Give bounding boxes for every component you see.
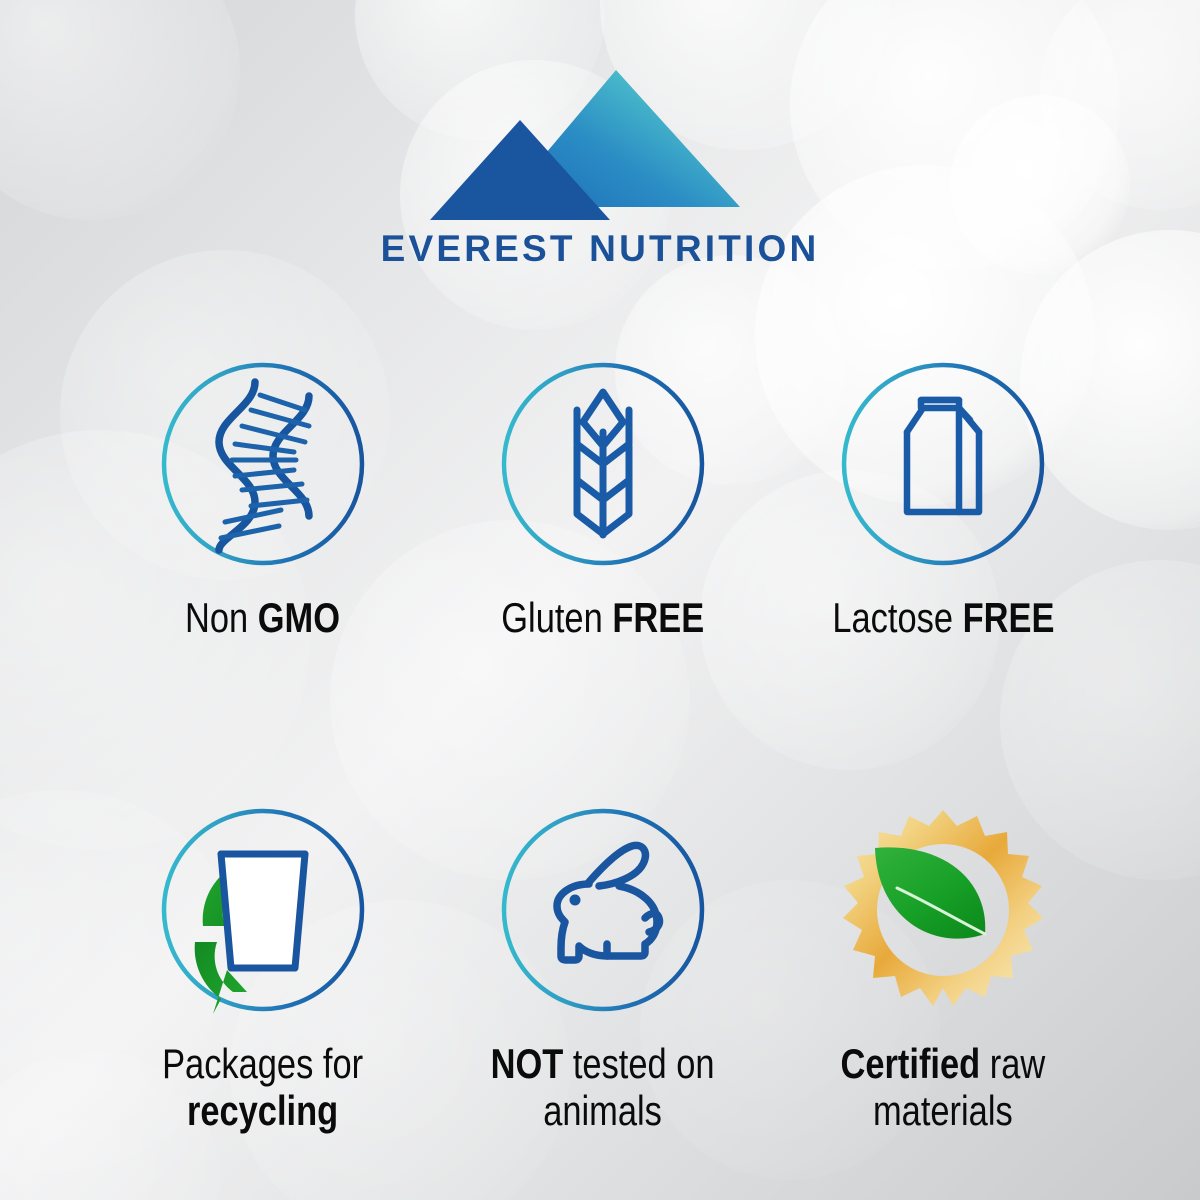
badge-not-tested-on-animals[interactable]: NOT tested on animals [433, 806, 773, 1134]
badge-caption: Certified raw materials [841, 1040, 1046, 1134]
caption-plain: Lactose [832, 594, 962, 641]
badge-icon-frame [839, 806, 1047, 1014]
badge-caption: Lactose FREE [832, 594, 1054, 641]
badge-icon-frame [499, 360, 707, 568]
caption-line-2: materials [841, 1087, 1046, 1134]
badge-non-gmo[interactable]: Non GMO [93, 360, 433, 641]
rabbit-icon [499, 806, 707, 1014]
caption-bold: Certified [841, 1040, 981, 1087]
badge-lactose-free[interactable]: Lactose FREE [773, 360, 1113, 641]
caption-line-2: animals [491, 1087, 715, 1134]
caption-line-1: Packages for [162, 1040, 363, 1087]
badge-icon-frame [159, 360, 367, 568]
brand-name: EVEREST NUTRITION [0, 230, 1200, 267]
milk-carton-icon [839, 360, 1047, 568]
caption-bold: FREE [613, 594, 705, 641]
caption-line-1: Certified raw [841, 1040, 1046, 1087]
poster-canvas: EVEREST NUTRITION [0, 0, 1200, 1200]
badge-row-1: Non GMO [93, 360, 1200, 641]
badge-icon-frame [839, 360, 1047, 568]
badge-caption: Packages for recycling [162, 1040, 363, 1134]
badge-certified-raw-materials[interactable]: Certified raw materials [773, 806, 1113, 1134]
dna-helix-icon [159, 360, 367, 568]
caption-bold: GMO [258, 594, 340, 641]
badge-caption: Gluten FREE [502, 594, 705, 641]
sun-leaf-certified-icon [839, 806, 1047, 1014]
caption-plain: Gluten [502, 594, 613, 641]
caption-plain: tested on [564, 1040, 715, 1087]
badge-icon-frame [159, 806, 367, 1014]
mountain-peaks-icon [420, 62, 780, 222]
certification-badge-grid: Non GMO [0, 360, 1200, 1134]
badge-icon-frame [499, 806, 707, 1014]
wheat-stalk-icon [499, 360, 707, 568]
caption-plain: Non [185, 594, 258, 641]
badge-row-2: Packages for recycling [93, 806, 1200, 1134]
recycling-cup-icon [159, 806, 367, 1014]
caption-line-1: NOT tested on [491, 1040, 715, 1087]
caption-bold: FREE [962, 594, 1054, 641]
caption-plain: raw [980, 1040, 1045, 1087]
badge-gluten-free[interactable]: Gluten FREE [433, 360, 773, 641]
caption-bold: NOT [491, 1040, 564, 1087]
rabbit-eye [570, 895, 581, 906]
badge-packages-for-recycling[interactable]: Packages for recycling [93, 806, 433, 1134]
caption-line-2: recycling [162, 1087, 363, 1134]
brand-logo: EVEREST NUTRITION [0, 62, 1200, 267]
badge-caption: Non GMO [185, 594, 340, 641]
badge-caption: NOT tested on animals [491, 1040, 715, 1134]
